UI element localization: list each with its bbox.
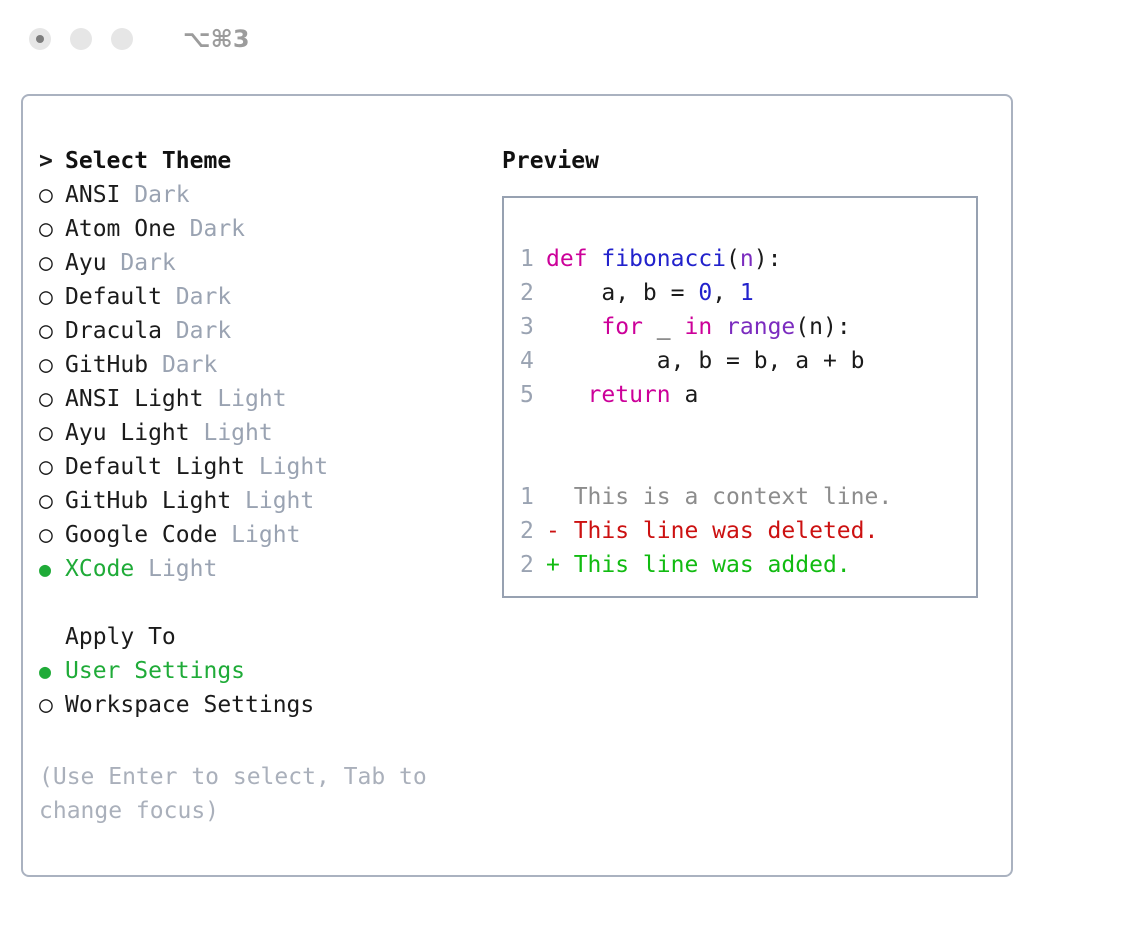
radio-selected-icon[interactable]: ● xyxy=(39,654,65,688)
select-theme-heading-label: Select Theme xyxy=(65,144,231,178)
theme-name: Default xyxy=(65,280,162,314)
app-window: ⌥⌘3 >Select Theme ○ANSI Dark ○Atom One D… xyxy=(0,0,1140,934)
token-punctuation: (n): xyxy=(795,314,850,340)
theme-name: Ayu Light xyxy=(65,416,190,450)
diff-text: - This line was deleted. xyxy=(546,514,878,548)
theme-list-item-selected[interactable]: ●XCode Light xyxy=(39,552,499,586)
token-keyword: return xyxy=(588,382,671,408)
line-number: 3 xyxy=(520,310,546,344)
token-variable: a, b = b, a + b xyxy=(546,348,865,374)
theme-name: Default Light xyxy=(65,450,245,484)
theme-name: ANSI Light xyxy=(65,382,203,416)
theme-variant-tag: Light xyxy=(203,382,286,416)
radio-unselected-icon[interactable]: ○ xyxy=(39,178,65,212)
code-content: a, b = 0, 1 xyxy=(546,276,754,310)
main-panel: >Select Theme ○ANSI Dark ○Atom One Dark … xyxy=(21,94,1013,877)
diff-text: + This line was added. xyxy=(546,548,851,582)
theme-list-item[interactable]: ○ANSI Light Light xyxy=(39,382,499,416)
active-dot-inner xyxy=(36,35,44,43)
code-content: return a xyxy=(546,378,698,412)
apply-to-option-label: User Settings xyxy=(65,654,245,688)
theme-list-item[interactable]: ○Atom One Dark xyxy=(39,212,499,246)
token-keyword: for xyxy=(601,314,643,340)
hint-spacer xyxy=(39,722,499,756)
apply-to-group: Apply To ●User Settings ○Workspace Setti… xyxy=(39,620,499,722)
title-bar: ⌥⌘3 xyxy=(0,0,1140,78)
diff-line-deleted: 2- This line was deleted. xyxy=(504,514,976,548)
line-number: 1 xyxy=(520,480,546,514)
token-punctuation: ( xyxy=(726,246,740,272)
code-line: 5 return a xyxy=(504,378,976,412)
theme-list-item[interactable]: ○Dracula Dark xyxy=(39,314,499,348)
theme-name: GitHub Light xyxy=(65,484,231,518)
line-number: 5 xyxy=(520,378,546,412)
window-control-active-dot[interactable] xyxy=(29,28,51,50)
theme-selector-column: >Select Theme ○ANSI Dark ○Atom One Dark … xyxy=(39,144,499,828)
token-indent xyxy=(546,314,601,340)
apply-to-heading: Apply To xyxy=(39,620,499,654)
token-punctuation: , xyxy=(712,280,740,306)
radio-unselected-icon[interactable]: ○ xyxy=(39,382,65,416)
theme-list-item[interactable]: ○Ayu Light Light xyxy=(39,416,499,450)
theme-variant-tag: Light xyxy=(217,518,300,552)
theme-variant-tag: Light xyxy=(190,416,273,450)
apply-to-option-label: Workspace Settings xyxy=(65,688,314,722)
select-theme-heading: >Select Theme xyxy=(39,144,499,178)
radio-unselected-icon[interactable]: ○ xyxy=(39,484,65,518)
token-number: 1 xyxy=(740,280,754,306)
theme-name: ANSI xyxy=(65,178,120,212)
line-number: 4 xyxy=(520,344,546,378)
theme-variant-tag: Dark xyxy=(162,280,231,314)
theme-variant-tag: Dark xyxy=(107,246,176,280)
theme-list-item[interactable]: ○Google Code Light xyxy=(39,518,499,552)
code-blank-line xyxy=(504,412,976,446)
token-number: 0 xyxy=(698,280,712,306)
line-number: 1 xyxy=(520,242,546,276)
radio-unselected-icon[interactable]: ○ xyxy=(39,348,65,382)
token-variable: a, b = xyxy=(546,280,698,306)
theme-list-item[interactable]: ○Default Light Light xyxy=(39,450,499,484)
theme-variant-tag: Light xyxy=(134,552,217,586)
theme-name: Ayu xyxy=(65,246,107,280)
theme-list: ○ANSI Dark ○Atom One Dark ○Ayu Dark ○Def… xyxy=(39,178,499,586)
line-number: 2 xyxy=(520,514,546,548)
radio-selected-icon[interactable]: ● xyxy=(39,552,65,586)
theme-name: Dracula xyxy=(65,314,162,348)
radio-unselected-icon[interactable]: ○ xyxy=(39,314,65,348)
code-line: 4 a, b = b, a + b xyxy=(504,344,976,378)
radio-unselected-icon[interactable]: ○ xyxy=(39,246,65,280)
window-controls xyxy=(29,28,133,50)
code-content: a, b = b, a + b xyxy=(546,344,865,378)
keyboard-shortcut-label: ⌥⌘3 xyxy=(183,25,250,53)
token-punctuation: ): xyxy=(754,246,782,272)
apply-to-option-user-settings[interactable]: ●User Settings xyxy=(39,654,499,688)
code-content: for _ in range(n): xyxy=(546,310,851,344)
keyboard-hint-text: (Use Enter to select, Tab to change focu… xyxy=(39,760,459,828)
token-parameter: n xyxy=(740,246,754,272)
theme-name: XCode xyxy=(65,552,134,586)
token-space xyxy=(588,246,602,272)
preview-title: Preview xyxy=(502,144,1002,178)
code-line: 1def fibonacci(n): xyxy=(504,242,976,276)
apply-to-heading-label: Apply To xyxy=(65,620,176,654)
theme-list-item[interactable]: ○Ayu Dark xyxy=(39,246,499,280)
diff-text: This is a context line. xyxy=(546,480,892,514)
apply-to-option-workspace-settings[interactable]: ○Workspace Settings xyxy=(39,688,499,722)
theme-variant-tag: Dark xyxy=(148,348,217,382)
radio-unselected-icon[interactable]: ○ xyxy=(39,518,65,552)
line-number: 2 xyxy=(520,276,546,310)
window-control-dot-2[interactable] xyxy=(70,28,92,50)
theme-variant-tag: Dark xyxy=(162,314,231,348)
code-line: 3 for _ in range(n): xyxy=(504,310,976,344)
theme-variant-tag: Light xyxy=(231,484,314,518)
diff-line-added: 2+ This line was added. xyxy=(504,548,976,582)
token-variable: _ xyxy=(643,314,685,340)
theme-list-item[interactable]: ○ANSI Dark xyxy=(39,178,499,212)
code-line: 2 a, b = 0, 1 xyxy=(504,276,976,310)
theme-list-item[interactable]: ○GitHub Dark xyxy=(39,348,499,382)
token-indent xyxy=(546,382,588,408)
token-function-name: fibonacci xyxy=(601,246,726,272)
theme-variant-tag: Dark xyxy=(176,212,245,246)
line-number: 2 xyxy=(520,548,546,582)
window-control-dot-3[interactable] xyxy=(111,28,133,50)
theme-name: GitHub xyxy=(65,348,148,382)
radio-unselected-icon[interactable]: ○ xyxy=(39,212,65,246)
diff-line-context: 1 This is a context line. xyxy=(504,480,976,514)
theme-list-item[interactable]: ○GitHub Light Light xyxy=(39,484,499,518)
radio-unselected-icon[interactable]: ○ xyxy=(39,280,65,314)
token-keyword: in xyxy=(684,314,712,340)
token-keyword: def xyxy=(546,246,588,272)
theme-variant-tag: Dark xyxy=(120,178,189,212)
caret-icon: > xyxy=(39,144,65,178)
theme-name: Atom One xyxy=(65,212,176,246)
code-blank-line xyxy=(504,446,976,480)
token-variable: a xyxy=(671,382,699,408)
preview-box: 1def fibonacci(n): 2 a, b = 0, 1 3 for _… xyxy=(502,196,978,598)
theme-variant-tag: Light xyxy=(245,450,328,484)
theme-name: Google Code xyxy=(65,518,217,552)
section-spacer xyxy=(39,586,499,620)
code-content: def fibonacci(n): xyxy=(546,242,781,276)
radio-unselected-icon[interactable]: ○ xyxy=(39,450,65,484)
token-space xyxy=(712,314,726,340)
token-builtin: range xyxy=(726,314,795,340)
radio-unselected-icon[interactable]: ○ xyxy=(39,416,65,450)
theme-list-item[interactable]: ○Default Dark xyxy=(39,280,499,314)
radio-unselected-icon[interactable]: ○ xyxy=(39,688,65,722)
preview-column: Preview 1def fibonacci(n): 2 a, b = 0, 1… xyxy=(502,144,1002,598)
